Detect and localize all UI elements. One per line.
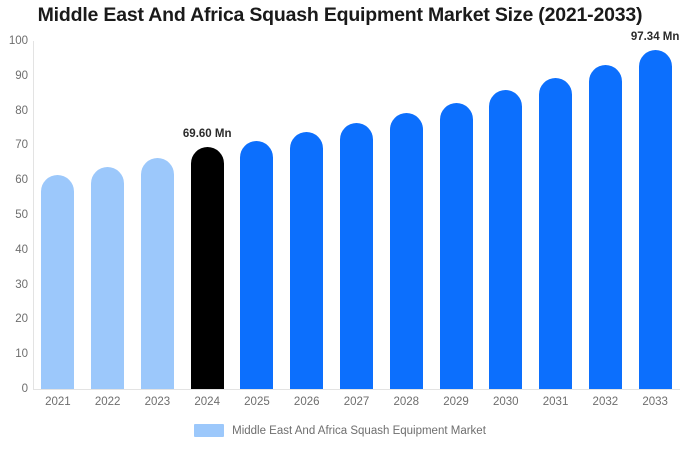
bar-2025[interactable] xyxy=(240,141,273,389)
bar-2030[interactable] xyxy=(489,90,522,389)
bar-slot: 97.34 Mn xyxy=(639,41,672,389)
bar-2029[interactable] xyxy=(440,103,473,389)
y-axis-tick-label: 50 xyxy=(2,209,28,221)
x-axis-tick-label: 2033 xyxy=(630,396,680,408)
x-axis-tick-label: 2029 xyxy=(431,396,481,408)
bar-2027[interactable] xyxy=(340,123,373,389)
bar-2024[interactable] xyxy=(191,147,224,389)
bar-slot xyxy=(141,41,174,389)
bar-value-label: 97.34 Mn xyxy=(631,31,680,43)
x-axis-tick-label: 2028 xyxy=(381,396,431,408)
x-axis-tick-label: 2021 xyxy=(33,396,83,408)
x-axis-tick-label: 2024 xyxy=(182,396,232,408)
x-axis-tick-label: 2023 xyxy=(132,396,182,408)
bar-2022[interactable] xyxy=(91,167,124,389)
bar-slot: 69.60 Mn xyxy=(191,41,224,389)
y-axis-tick-label: 0 xyxy=(2,383,28,395)
legend-item[interactable]: Middle East And Africa Squash Equipment … xyxy=(194,424,486,437)
x-axis-tick-label: 2027 xyxy=(332,396,382,408)
bar-2032[interactable] xyxy=(589,65,622,389)
bar-slot xyxy=(41,41,74,389)
chart-title: Middle East And Africa Squash Equipment … xyxy=(0,4,680,27)
bar-value-label: 69.60 Mn xyxy=(183,128,232,140)
bar-slot xyxy=(589,41,622,389)
bar-slot xyxy=(489,41,522,389)
y-axis-tick-label: 40 xyxy=(2,244,28,256)
bars-group: 69.60 Mn97.34 Mn xyxy=(33,41,680,389)
y-axis-tick-label: 60 xyxy=(2,174,28,186)
chart-legend: Middle East And Africa Squash Equipment … xyxy=(0,424,680,437)
bar-2028[interactable] xyxy=(390,113,423,389)
bar-2023[interactable] xyxy=(141,158,174,389)
y-axis-tick-label: 80 xyxy=(2,105,28,117)
y-axis-tick-label: 10 xyxy=(2,348,28,360)
y-axis-tick-label: 20 xyxy=(2,313,28,325)
x-axis-tick-label: 2026 xyxy=(282,396,332,408)
x-axis-tick-label: 2025 xyxy=(232,396,282,408)
bar-2021[interactable] xyxy=(41,175,74,389)
bar-2033[interactable] xyxy=(639,50,672,389)
bar-slot xyxy=(91,41,124,389)
y-axis-tick-label: 100 xyxy=(2,35,28,47)
bar-slot xyxy=(539,41,572,389)
x-axis-tick-label: 2031 xyxy=(531,396,581,408)
y-axis-tick-label: 90 xyxy=(2,70,28,82)
bar-slot xyxy=(290,41,323,389)
x-axis-tick-label: 2032 xyxy=(580,396,630,408)
x-axis-tick-label: 2030 xyxy=(481,396,531,408)
bar-2031[interactable] xyxy=(539,78,572,389)
y-axis: 0102030405060708090100 xyxy=(0,41,28,389)
y-axis-tick-label: 30 xyxy=(2,279,28,291)
bar-slot xyxy=(240,41,273,389)
bar-slot xyxy=(440,41,473,389)
bar-slot xyxy=(340,41,373,389)
x-axis-tick-label: 2022 xyxy=(83,396,133,408)
legend-swatch-icon xyxy=(194,424,224,437)
legend-label: Middle East And Africa Squash Equipment … xyxy=(232,425,486,437)
y-axis-tick-label: 70 xyxy=(2,139,28,151)
bar-2026[interactable] xyxy=(290,132,323,389)
x-axis-line xyxy=(33,389,680,390)
chart-container: Middle East And Africa Squash Equipment … xyxy=(0,0,680,450)
x-axis: 2021202220232024202520262027202820292030… xyxy=(33,392,680,414)
bar-slot xyxy=(390,41,423,389)
